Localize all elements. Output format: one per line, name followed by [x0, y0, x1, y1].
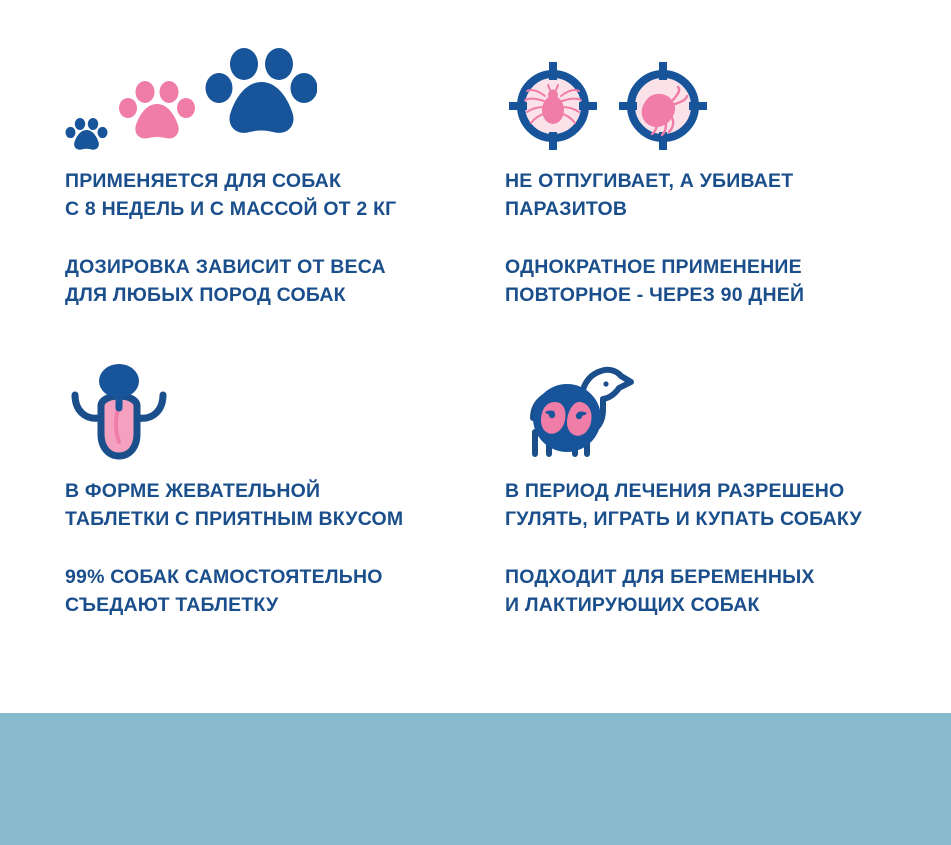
feature-text-line: ПОДХОДИТ ДЛЯ БЕРЕМЕННЫХ И ЛАКТИРУЮЩИХ СО…: [505, 564, 945, 619]
feature-cell-kills-parasites: НЕ ОТПУГИВАЕТ, А УБИВАЕТ ПАРАЗИТОВ ОДНОК…: [505, 38, 945, 310]
feature-text-line: НЕ ОТПУГИВАЕТ, А УБИВАЕТ ПАРАЗИТОВ: [505, 168, 945, 223]
text-area: В ПЕРИОД ЛЕЧЕНИЯ РАЗРЕШЕНО ГУЛЯТЬ, ИГРАТ…: [505, 478, 945, 620]
feature-cell-pregnant-lactating: В ПЕРИОД ЛЕЧЕНИЯ РАЗРЕШЕНО ГУЛЯТЬ, ИГРАТ…: [505, 348, 945, 620]
flea-target-icon: [615, 56, 711, 156]
feature-text-line: В ФОРМЕ ЖЕВАТЕЛЬНОЙ ТАБЛЕТКИ С ПРИЯТНЫМ …: [65, 478, 505, 533]
paw-large-icon: [205, 44, 317, 156]
tick-target-icon: [505, 56, 601, 156]
bottom-teal-band: [0, 713, 951, 845]
paw-medium-icon: [119, 74, 195, 156]
feature-text-line: ПРИМЕНЯЕТСЯ ДЛЯ СОБАК С 8 НЕДЕЛЬ И С МАС…: [65, 168, 505, 223]
feature-text-line: ОДНОКРАТНОЕ ПРИМЕНЕНИЕ ПОВТОРНОЕ - ЧЕРЕЗ…: [505, 254, 945, 309]
feature-text-line: В ПЕРИОД ЛЕЧЕНИЯ РАЗРЕШЕНО ГУЛЯТЬ, ИГРАТ…: [505, 478, 945, 533]
text-area: В ФОРМЕ ЖЕВАТЕЛЬНОЙ ТАБЛЕТКИ С ПРИЯТНЫМ …: [65, 478, 505, 620]
text-area: ПРИМЕНЯЕТСЯ ДЛЯ СОБАК С 8 НЕДЕЛЬ И С МАС…: [65, 168, 505, 310]
feature-cell-dogs-age-weight: ПРИМЕНЯЕТСЯ ДЛЯ СОБАК С 8 НЕДЕЛЬ И С МАС…: [65, 38, 505, 310]
dog-tongue-icon: [65, 362, 177, 466]
icon-area: [505, 348, 945, 466]
text-area: НЕ ОТПУГИВАЕТ, А УБИВАЕТ ПАРАЗИТОВ ОДНОК…: [505, 168, 945, 310]
pregnant-dog-icon: [505, 360, 641, 466]
icon-area: [65, 38, 505, 156]
paw-small-icon: [65, 108, 109, 156]
tick-and-flea-target-icon: [505, 56, 711, 156]
feature-text-line: 99% СОБАК САМОСТОЯТЕЛЬНО СЪЕДАЮТ ТАБЛЕТК…: [65, 564, 505, 619]
icon-area: [65, 348, 505, 466]
three-paw-prints-icon: [65, 44, 317, 156]
feature-cell-chewable-tablet: В ФОРМЕ ЖЕВАТЕЛЬНОЙ ТАБЛЕТКИ С ПРИЯТНЫМ …: [65, 348, 505, 620]
feature-text-line: ДОЗИРОВКА ЗАВИСИТ ОТ ВЕСА ДЛЯ ЛЮБЫХ ПОРО…: [65, 254, 505, 309]
feature-grid: ПРИМЕНЯЕТСЯ ДЛЯ СОБАК С 8 НЕДЕЛЬ И С МАС…: [0, 0, 951, 660]
icon-area: [505, 38, 945, 156]
infographic-page: ПРИМЕНЯЕТСЯ ДЛЯ СОБАК С 8 НЕДЕЛЬ И С МАС…: [0, 0, 951, 845]
